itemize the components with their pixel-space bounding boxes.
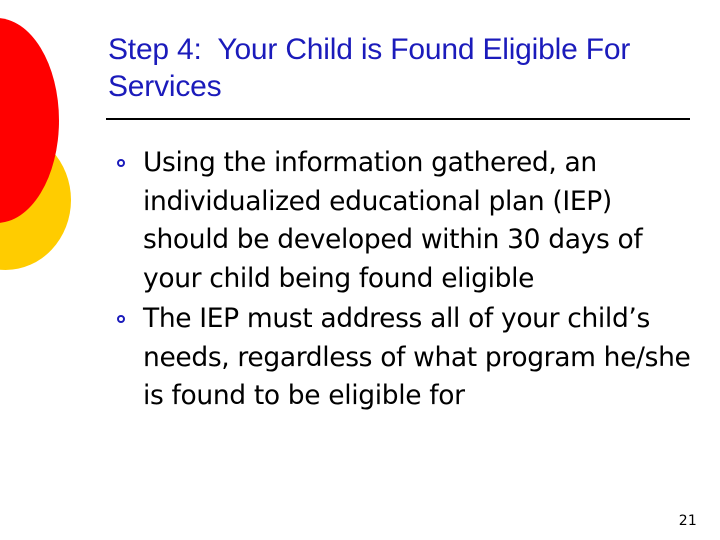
body-content: Using the information gathered, an indiv… [112,144,700,418]
title-divider-rule [106,118,690,120]
list-item-text: Using the information gathered, an indiv… [143,147,642,294]
page-number: 21 [679,513,697,529]
list-item: The IEP must address all of your child’s… [112,300,700,416]
slide-canvas: Step 4: Your Child is Found Eligible For… [0,0,720,540]
title-block: Step 4: Your Child is Found Eligible For… [108,32,692,106]
slide-title: Step 4: Your Child is Found Eligible For… [108,32,692,106]
list-item: Using the information gathered, an indiv… [112,144,700,298]
yellow-circle-decoration [0,130,71,270]
hollow-circle-bullet-icon [117,159,125,167]
hollow-circle-bullet-icon [117,315,125,323]
red-circle-decoration [0,18,59,223]
list-item-text: The IEP must address all of your child’s… [143,303,690,411]
bullet-list: Using the information gathered, an indiv… [112,144,700,416]
